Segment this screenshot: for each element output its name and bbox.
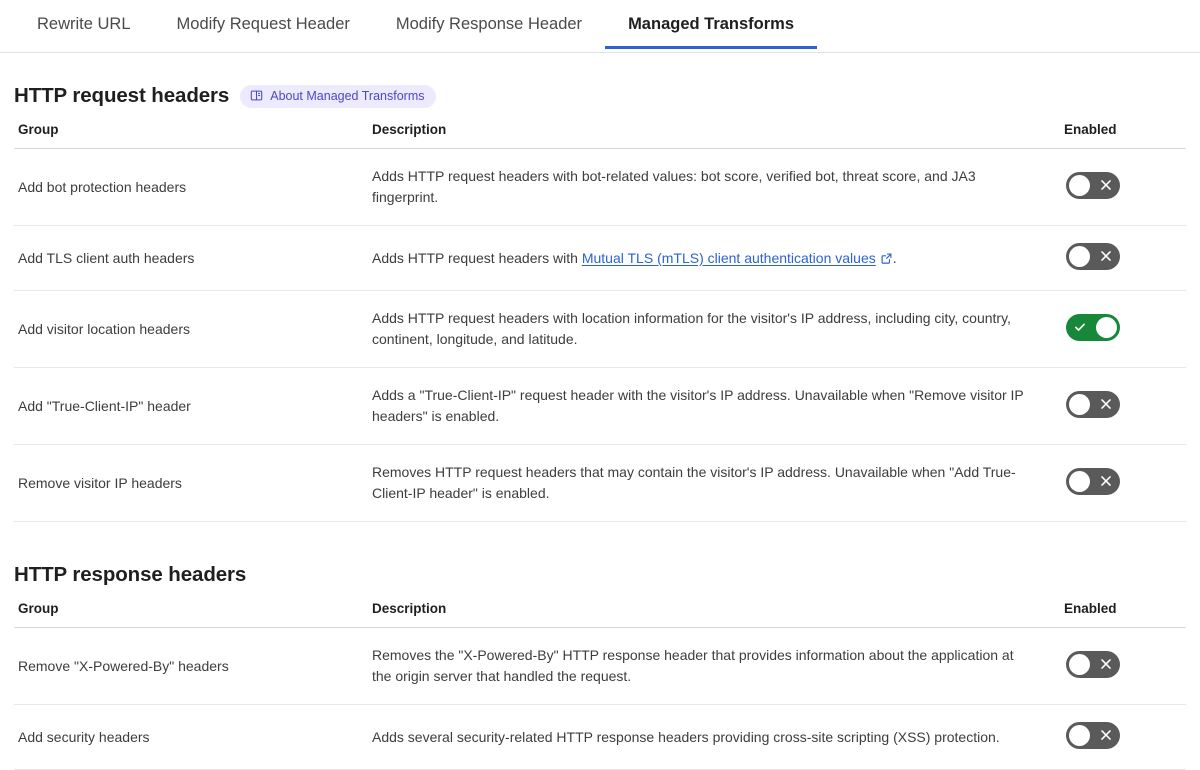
row-enabled-cell <box>1064 291 1186 368</box>
cross-icon <box>1099 249 1113 263</box>
external-link-icon[interactable] <box>880 250 893 263</box>
section-title: HTTP request headers <box>14 84 229 108</box>
row-group-label: Remove "X-Powered-By" headers <box>14 628 372 705</box>
toggle-knob <box>1069 175 1090 196</box>
row-enabled-cell <box>1064 368 1186 445</box>
row-enabled-cell <box>1064 705 1186 770</box>
cross-icon <box>1099 178 1113 192</box>
toggle-add-security-headers[interactable] <box>1066 722 1120 749</box>
request-headers-table: Group Description Enabled Add bot protec… <box>14 122 1186 522</box>
row-enabled-cell <box>1064 226 1186 291</box>
section-http-response-headers: HTTP response headers Group Description … <box>14 522 1186 770</box>
column-header-description: Description <box>372 122 1064 149</box>
toggle-add-visitor-location-headers[interactable] <box>1066 314 1120 341</box>
table-row: Remove "X-Powered-By" headers Removes th… <box>14 628 1186 705</box>
table-header-row: Group Description Enabled <box>14 122 1186 149</box>
toggle-knob <box>1069 725 1090 746</box>
row-description: Adds HTTP request headers with Mutual TL… <box>372 226 1064 291</box>
cross-icon <box>1099 397 1113 411</box>
table-row: Add TLS client auth headers Adds HTTP re… <box>14 226 1186 291</box>
row-enabled-cell <box>1064 628 1186 705</box>
toggle-knob <box>1096 317 1117 338</box>
column-header-enabled: Enabled <box>1064 601 1186 628</box>
row-group-label: Add visitor location headers <box>14 291 372 368</box>
row-description-suffix: . <box>893 250 897 266</box>
cross-icon <box>1099 657 1113 671</box>
row-group-label: Add TLS client auth headers <box>14 226 372 291</box>
row-group-label: Remove visitor IP headers <box>14 445 372 522</box>
tab-bar: Rewrite URL Modify Request Header Modify… <box>0 0 1200 53</box>
about-managed-transforms-badge[interactable]: About Managed Transforms <box>240 85 436 108</box>
tab-modify-request-header[interactable]: Modify Request Header <box>154 0 373 49</box>
check-icon <box>1073 320 1087 334</box>
section-http-request-headers: HTTP request headers About Managed Trans… <box>14 53 1186 522</box>
response-headers-table: Group Description Enabled Remove "X-Powe… <box>14 601 1186 770</box>
row-description: Removes the "X-Powered-By" HTTP response… <box>372 628 1064 705</box>
page-content: HTTP request headers About Managed Trans… <box>0 53 1200 770</box>
cross-icon <box>1099 474 1113 488</box>
mutual-tls-link[interactable]: Mutual TLS (mTLS) client authentication … <box>582 250 876 266</box>
column-header-description: Description <box>372 601 1064 628</box>
row-group-label: Add bot protection headers <box>14 149 372 226</box>
row-enabled-cell <box>1064 445 1186 522</box>
toggle-add-bot-protection-headers[interactable] <box>1066 172 1120 199</box>
section-title: HTTP response headers <box>14 563 246 587</box>
toggle-knob <box>1069 394 1090 415</box>
toggle-add-true-client-ip-header[interactable] <box>1066 391 1120 418</box>
row-description: Adds a "True-Client-IP" request header w… <box>372 368 1064 445</box>
column-header-group: Group <box>14 601 372 628</box>
tab-managed-transforms[interactable]: Managed Transforms <box>605 0 817 49</box>
toggle-add-tls-client-auth-headers[interactable] <box>1066 243 1120 270</box>
column-header-enabled: Enabled <box>1064 122 1186 149</box>
table-row: Add security headers Adds several securi… <box>14 705 1186 770</box>
row-description: Adds several security-related HTTP respo… <box>372 705 1064 770</box>
column-header-group: Group <box>14 122 372 149</box>
table-row: Remove visitor IP headers Removes HTTP r… <box>14 445 1186 522</box>
toggle-remove-x-powered-by-headers[interactable] <box>1066 651 1120 678</box>
row-group-label: Add "True-Client-IP" header <box>14 368 372 445</box>
toggle-knob <box>1069 471 1090 492</box>
tab-rewrite-url[interactable]: Rewrite URL <box>14 0 154 49</box>
section-header: HTTP response headers <box>14 563 1186 587</box>
about-managed-transforms-label: About Managed Transforms <box>270 88 424 104</box>
toggle-knob <box>1069 654 1090 675</box>
table-header-row: Group Description Enabled <box>14 601 1186 628</box>
table-row: Add bot protection headers Adds HTTP req… <box>14 149 1186 226</box>
book-icon <box>250 89 263 102</box>
section-header: HTTP request headers About Managed Trans… <box>14 84 1186 108</box>
cross-icon <box>1099 728 1113 742</box>
table-row: Add visitor location headers Adds HTTP r… <box>14 291 1186 368</box>
row-description: Removes HTTP request headers that may co… <box>372 445 1064 522</box>
table-row: Add "True-Client-IP" header Adds a "True… <box>14 368 1186 445</box>
row-description: Adds HTTP request headers with location … <box>372 291 1064 368</box>
toggle-knob <box>1069 246 1090 267</box>
row-description: Adds HTTP request headers with bot-relat… <box>372 149 1064 226</box>
row-enabled-cell <box>1064 149 1186 226</box>
row-description-prefix: Adds HTTP request headers with <box>372 250 582 266</box>
row-group-label: Add security headers <box>14 705 372 770</box>
toggle-remove-visitor-ip-headers[interactable] <box>1066 468 1120 495</box>
tab-modify-response-header[interactable]: Modify Response Header <box>373 0 605 49</box>
